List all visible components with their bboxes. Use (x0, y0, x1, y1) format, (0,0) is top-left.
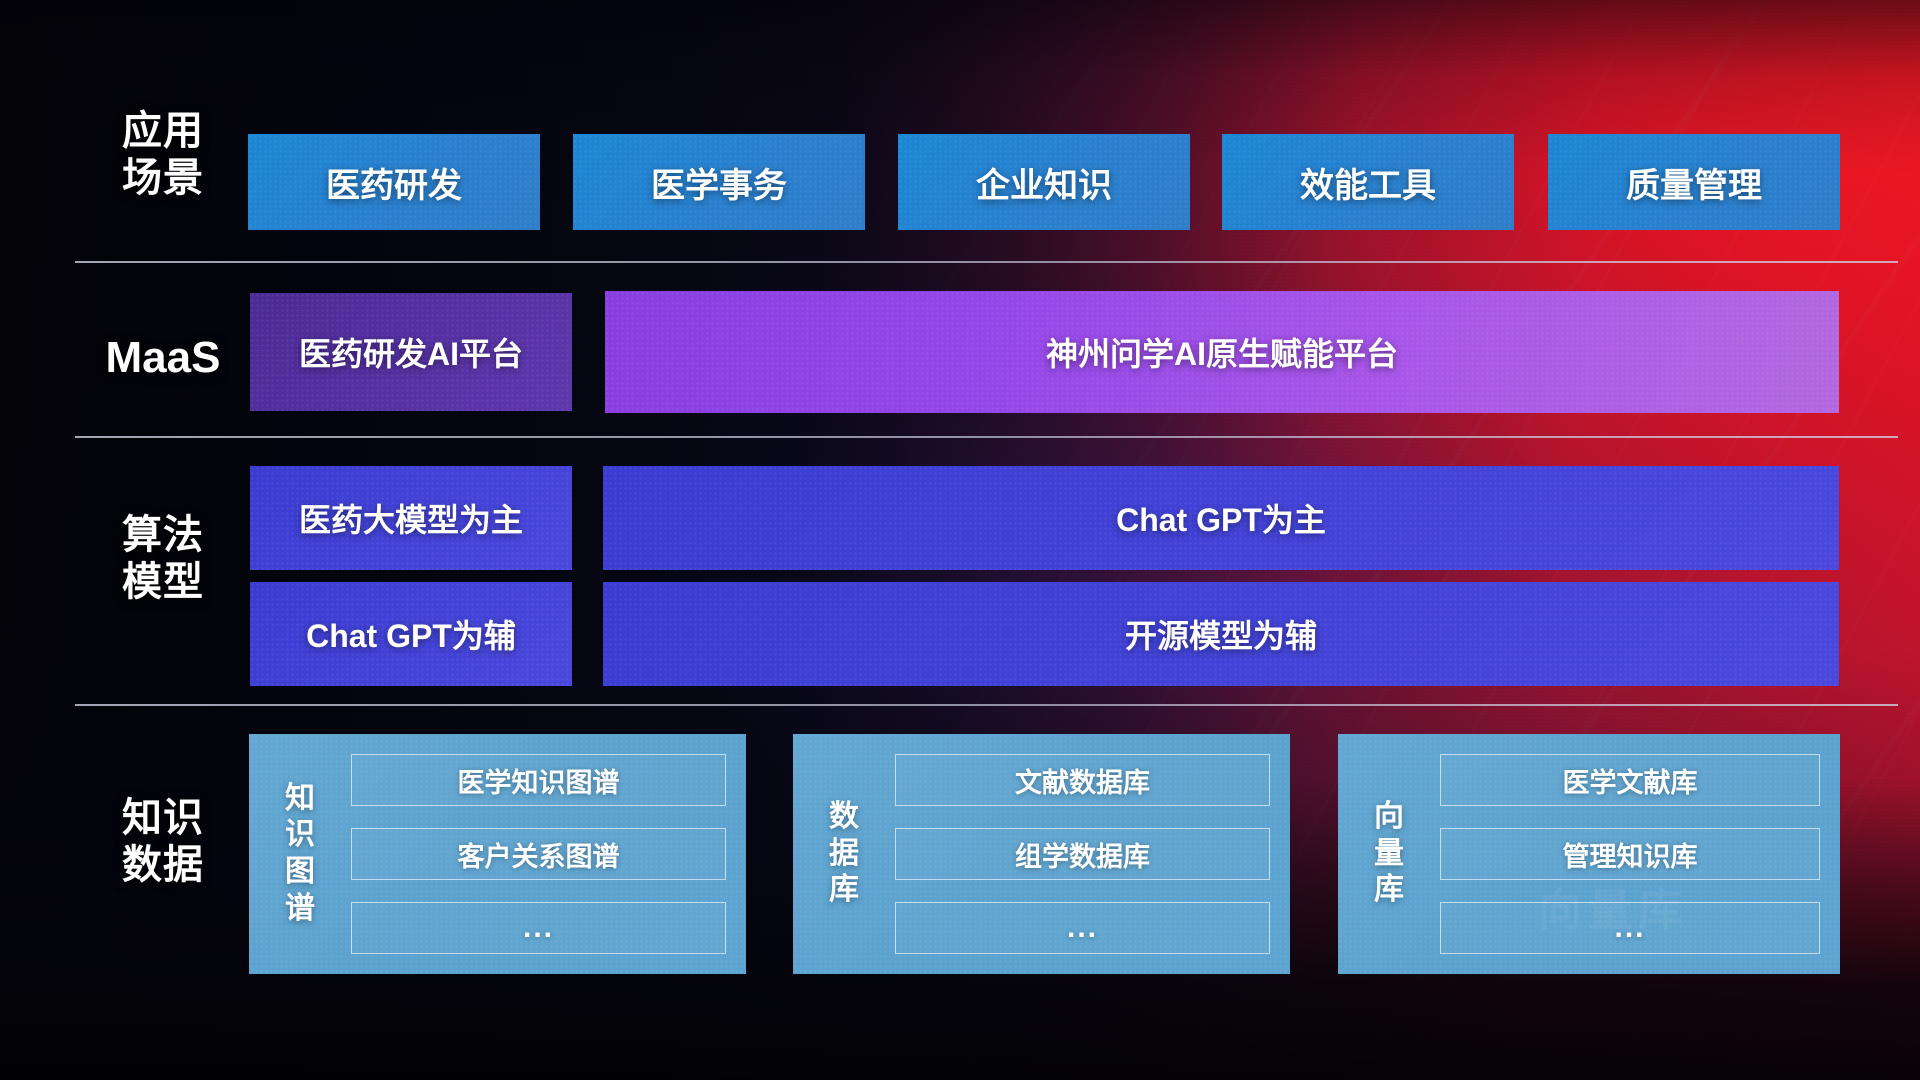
title-char: 量 (1374, 836, 1404, 873)
app-tile-quality-management[interactable]: 质量管理 (1548, 134, 1840, 230)
maas-tile-label: 医药研发AI平台 (299, 329, 523, 375)
knowledge-item-more[interactable]: ... (895, 902, 1270, 954)
row-label-line-1: 应用 (78, 108, 248, 155)
knowledge-group-items: 文献数据库 组学数据库 ... (881, 746, 1276, 962)
title-char: 库 (829, 872, 859, 909)
app-tile-label: 效能工具 (1300, 158, 1436, 207)
maas-tile-medicine-rd-ai-platform[interactable]: 医药研发AI平台 (250, 293, 572, 411)
knowledge-item-more[interactable]: ... (1440, 902, 1820, 954)
row-label-algorithm-models: 算法 模型 (78, 512, 248, 606)
knowledge-item-literature-database[interactable]: 文献数据库 (895, 754, 1270, 806)
algo-tile-chatgpt-secondary[interactable]: Chat GPT为辅 (250, 582, 572, 686)
app-tile-label: 质量管理 (1626, 158, 1762, 207)
row-label-line-1: 算法 (78, 512, 248, 559)
knowledge-item-more[interactable]: ... (351, 902, 726, 954)
title-char: 谱 (285, 891, 315, 928)
knowledge-item-omics-database[interactable]: 组学数据库 (895, 828, 1270, 880)
algo-tile-label: Chat GPT为辅 (306, 611, 516, 657)
algo-tile-medicine-large-model-primary[interactable]: 医药大模型为主 (250, 466, 572, 570)
app-tile-label: 企业知识 (976, 158, 1112, 207)
row-label-maas: MaaS (78, 332, 248, 384)
row-label-line-2: 模型 (78, 559, 248, 606)
row-label-text: MaaS (78, 332, 248, 384)
knowledge-item-label: 客户关系图谱 (458, 835, 620, 874)
app-tile-efficiency-tools[interactable]: 效能工具 (1222, 134, 1514, 230)
algo-tile-open-source-secondary[interactable]: 开源模型为辅 (603, 582, 1839, 686)
divider-after-algorithm-models (75, 704, 1898, 706)
algo-tile-label: Chat GPT为主 (1116, 495, 1326, 541)
divider-after-application-scenarios (75, 261, 1898, 263)
app-tile-medicine-rd[interactable]: 医药研发 (248, 134, 540, 230)
row-label-knowledge-data: 知识 数据 (78, 795, 248, 889)
algo-tile-label: 开源模型为辅 (1125, 611, 1317, 657)
maas-tile-shenzhou-wenxue-platform[interactable]: 神州问学AI原生赋能平台 (605, 291, 1839, 413)
divider-after-maas (75, 436, 1898, 438)
app-tile-medical-affairs[interactable]: 医学事务 (573, 134, 865, 230)
knowledge-group-vector-database: 向量库 向 量 库 医学文献库 管理知识库 ... (1338, 734, 1840, 974)
algo-tile-chatgpt-primary[interactable]: Chat GPT为主 (603, 466, 1839, 570)
knowledge-item-management-knowledge-library[interactable]: 管理知识库 (1440, 828, 1820, 880)
knowledge-item-label: ... (1067, 911, 1098, 945)
row-label-line-1: 知识 (78, 795, 248, 842)
knowledge-group-knowledge-graph: 知 识 图 谱 医学知识图谱 客户关系图谱 ... (249, 734, 746, 974)
app-tile-enterprise-knowledge[interactable]: 企业知识 (898, 134, 1190, 230)
title-char: 向 (1374, 799, 1404, 836)
knowledge-item-label: 医学文献库 (1563, 761, 1698, 800)
knowledge-group-title-vector-database: 向 量 库 (1352, 746, 1426, 962)
knowledge-item-label: 医学知识图谱 (458, 761, 620, 800)
knowledge-group-title-database: 数 据 库 (807, 746, 881, 962)
app-tile-label: 医学事务 (651, 158, 787, 207)
knowledge-item-label: ... (1614, 911, 1645, 945)
knowledge-item-medical-literature-library[interactable]: 医学文献库 (1440, 754, 1820, 806)
maas-tile-label: 神州问学AI原生赋能平台 (1046, 329, 1398, 375)
knowledge-item-label: ... (523, 911, 554, 945)
knowledge-group-title-knowledge-graph: 知 识 图 谱 (263, 746, 337, 962)
row-label-application-scenarios: 应用 场景 (78, 108, 248, 202)
title-char: 图 (285, 854, 315, 891)
algo-tile-label: 医药大模型为主 (299, 495, 523, 541)
knowledge-item-customer-relationship-graph[interactable]: 客户关系图谱 (351, 828, 726, 880)
architecture-diagram: 应用 场景 医药研发 医学事务 企业知识 效能工具 质量管理 MaaS 医药研发… (0, 0, 1920, 1080)
title-char: 知 (285, 781, 315, 818)
title-char: 识 (285, 817, 315, 854)
knowledge-item-label: 文献数据库 (1015, 761, 1150, 800)
knowledge-group-items: 医学知识图谱 客户关系图谱 ... (337, 746, 732, 962)
row-label-line-2: 场景 (78, 155, 248, 202)
title-char: 数 (829, 799, 859, 836)
knowledge-item-medical-knowledge-graph[interactable]: 医学知识图谱 (351, 754, 726, 806)
row-label-line-2: 数据 (78, 842, 248, 889)
knowledge-group-database: 数 据 库 文献数据库 组学数据库 ... (793, 734, 1290, 974)
app-tile-label: 医药研发 (326, 158, 462, 207)
knowledge-item-label: 组学数据库 (1015, 835, 1150, 874)
title-char: 库 (1374, 872, 1404, 909)
knowledge-group-items: 医学文献库 管理知识库 ... (1426, 746, 1826, 962)
knowledge-item-label: 管理知识库 (1563, 835, 1698, 874)
title-char: 据 (829, 836, 859, 873)
